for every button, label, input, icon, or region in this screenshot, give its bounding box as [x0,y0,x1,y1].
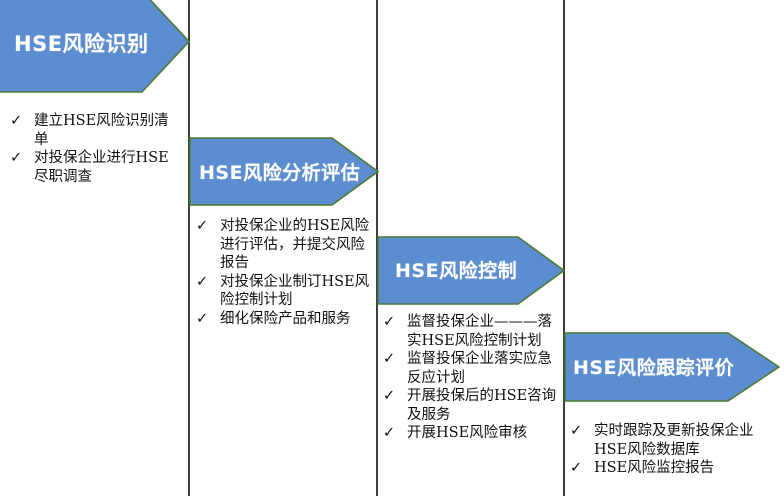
list-item-label: 对投保企业的HSE风险进行评估，并提交风险报告 [220,217,374,273]
list-item-label: 监督投保企业落实应急反应计划 [407,350,563,387]
check-icon: ✓ [10,112,34,131]
list-item: ✓ 对投保企业进行HSE尽职调查 [10,149,182,186]
check-icon: ✓ [196,217,220,236]
check-icon: ✓ [383,350,407,369]
list-item-label: 对投保企业制订HSE风险控制计划 [220,273,374,310]
list-item: ✓ HSE风险监控报告 [570,459,780,478]
list-item-label: 对投保企业进行HSE尽职调查 [34,149,182,186]
stage-4-title: HSE风险跟踪评价 [573,353,734,380]
list-item-label: 建立HSE风险识别清单 [34,112,182,149]
stage-4-bullets: ✓ 实时跟踪及更新投保企业HSE风险数据库 ✓ HSE风险监控报告 [570,422,780,478]
list-item: ✓ 实时跟踪及更新投保企业HSE风险数据库 [570,422,780,459]
list-item-label: 细化保险产品和服务 [220,310,374,329]
stage-1-bullets: ✓ 建立HSE风险识别清单 ✓ 对投保企业进行HSE尽职调查 [10,112,182,186]
stage-3-bullets: ✓ 监督投保企业———落实HSE风险控制计划 ✓ 监督投保企业落实应急反应计划 … [383,313,563,443]
check-icon: ✓ [570,422,594,441]
list-item-label: 开展投保后的HSE咨询及服务 [407,387,563,424]
list-item: ✓ 建立HSE风险识别清单 [10,112,182,149]
check-icon: ✓ [196,273,220,292]
list-item-label: 开展HSE风险审核 [407,424,563,443]
check-icon: ✓ [383,313,407,332]
hse-process-diagram: HSE风险识别 ✓ 建立HSE风险识别清单 ✓ 对投保企业进行HSE尽职调查 H… [0,0,784,496]
stage-2-title: HSE风险分析评估 [199,158,360,185]
check-icon: ✓ [570,459,594,478]
check-icon: ✓ [10,149,34,168]
check-icon: ✓ [383,387,407,406]
stage-3-title: HSE风险控制 [395,256,517,283]
list-item-label: 实时跟踪及更新投保企业HSE风险数据库 [594,422,780,459]
list-item: ✓ 监督投保企业———落实HSE风险控制计划 [383,313,563,350]
check-icon: ✓ [196,310,220,329]
list-item-label: 监督投保企业———落实HSE风险控制计划 [407,313,563,350]
check-icon: ✓ [383,424,407,443]
list-item: ✓ 开展投保后的HSE咨询及服务 [383,387,563,424]
list-item: ✓ 对投保企业制订HSE风险控制计划 [196,273,374,310]
list-item: ✓ 细化保险产品和服务 [196,310,374,329]
stage-1-title: HSE风险识别 [14,28,149,58]
list-item: ✓ 监督投保企业落实应急反应计划 [383,350,563,387]
list-item-label: HSE风险监控报告 [594,459,780,478]
list-item: ✓ 开展HSE风险审核 [383,424,563,443]
list-item: ✓ 对投保企业的HSE风险进行评估，并提交风险报告 [196,217,374,273]
stage-2-bullets: ✓ 对投保企业的HSE风险进行评估，并提交风险报告 ✓ 对投保企业制订HSE风险… [196,217,374,328]
